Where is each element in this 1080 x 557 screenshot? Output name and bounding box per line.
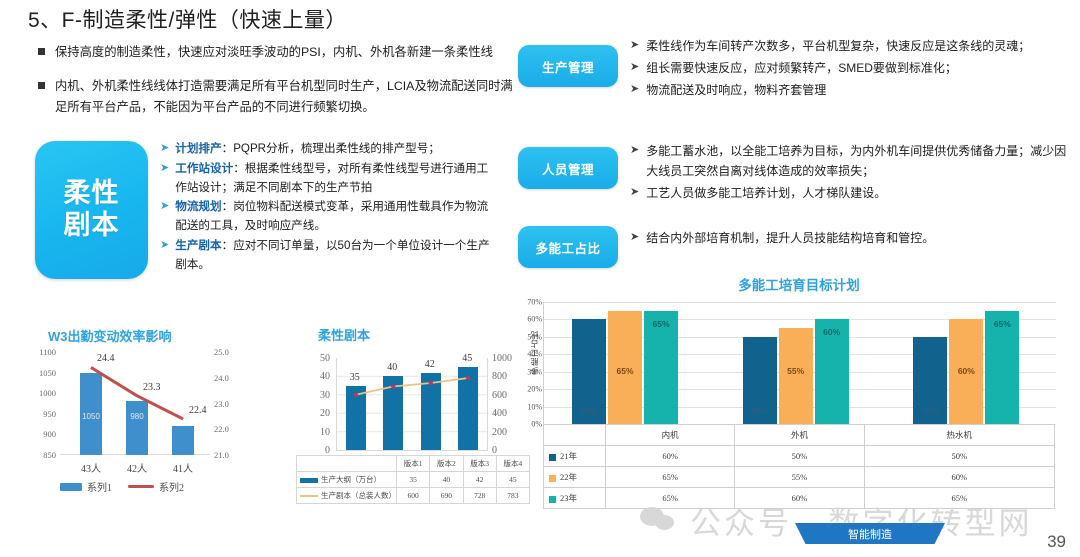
table-cell: 50% (864, 446, 1054, 467)
page-number: 39 (1047, 532, 1066, 552)
table-row: 生产大纲（万台）35404245 (297, 472, 530, 488)
bar-value-label: 35 (340, 372, 370, 383)
y-axis-tick: 20% (520, 385, 542, 394)
y-axis-tick: 0% (520, 420, 542, 429)
legend-swatch (549, 475, 556, 482)
table-cell: 60% (864, 467, 1054, 488)
legend-item: 系列2 (128, 479, 184, 494)
y-axis-tick: 50 (308, 353, 330, 364)
chart-multiskill-plot: 70%60%50%40%30%20%10%0%60%65%65%50%55%60… (543, 302, 1056, 424)
right-block-personnel: ➤多能工蓄水池，以全能工培养为目标，为内外机车间提供优秀储备力量；减少因大线员工… (630, 141, 1070, 205)
gridline (544, 302, 1056, 303)
bar-value-label: 42 (415, 359, 445, 370)
smart-manufacturing-banner: 智能制造 (795, 523, 945, 544)
y-axis-tick: 10 (308, 427, 330, 438)
chart-title: 多能工培育目标计划 (520, 274, 1078, 294)
tag-multiskill-ratio[interactable]: 多能工占比 (518, 226, 618, 268)
table-header-cell: 版本2 (430, 456, 463, 472)
arrow-bullet-icon: ➤ (630, 80, 639, 98)
bar-value-label: 45 (452, 353, 482, 364)
table-header-cell: 热水机 (864, 425, 1054, 446)
table-row-label: 22年 (544, 467, 606, 488)
table-cell: 35 (397, 472, 430, 488)
arrow-bullet-icon: ➤ (160, 140, 169, 158)
table-row-label: 21年 (544, 446, 606, 467)
chart-title: W3出勤变动效率影响 (48, 326, 172, 345)
square-bullet-icon (38, 82, 45, 89)
list-item-text: 工艺人员做多能工培养计划，人才梯队建设。 (646, 183, 886, 203)
y2-axis-tick: 21.0 (214, 450, 248, 460)
bar-value-label: 55% (779, 366, 813, 376)
list-item-text: 物流配送及时响应，物料齐套管理 (646, 80, 826, 100)
table-cell: 42 (463, 472, 496, 488)
table-cell: 600 (397, 488, 430, 504)
top-bullet-list: 保持高度的制造柔性，快速应对淡旺季波动的PSI，内机、外机各新建一条柔性线 内机… (38, 42, 518, 131)
chart-w3-plot: 1050980920 (60, 352, 210, 455)
legend-swatch-bar (60, 483, 82, 491)
chart-w3-attendance: W3出勤变动效率影响 11001050100095090085025.024.0… (14, 324, 276, 509)
y2-axis-tick: 25.0 (214, 347, 248, 357)
table-row: 21年60%50%50% (544, 446, 1055, 467)
chart-title: 柔性剧本 (318, 325, 370, 344)
y-axis-tick: 40 (308, 371, 330, 382)
arrow-bullet-icon: ➤ (630, 228, 639, 246)
x-axis-category: 43人 (69, 460, 113, 475)
table-row-label: 生产大纲（万台） (297, 472, 397, 488)
flexible-script-item-list: ➤ 计划排产：PQPR分析，梳理出柔性线的排产型号； ➤ 工作站设计：根据柔性线… (160, 140, 495, 275)
arrow-bullet-icon: ➤ (160, 198, 169, 216)
legend-swatch (300, 478, 318, 483)
trend-line (60, 352, 210, 455)
tag-production-management[interactable]: 生产管理 (518, 45, 618, 87)
arrow-bullet-icon: ➤ (160, 160, 169, 178)
chart-multiskill-data-table: 内机外机热水机21年60%50%50%22年65%55%60%23年65%60%… (543, 424, 1055, 509)
item-text: ：应对不同订单量，以50台为一个单位设计一个生产剧本。 (175, 239, 489, 271)
bar-value-label: 60% (572, 406, 606, 416)
panel-label-line2: 剧本 (64, 210, 120, 242)
bar-value-label: 50% (743, 406, 777, 416)
legend-swatch (549, 454, 556, 461)
item-text: ：PQPR分析，梳理出柔性线的排产型号； (222, 142, 440, 155)
y-axis-tick: 1100 (22, 347, 56, 357)
legend-swatch-line (128, 485, 154, 488)
list-item: ➤ 计划排产：PQPR分析，梳理出柔性线的排产型号； (160, 140, 495, 159)
bar-value-label: 60% (949, 366, 983, 376)
table-cell: 60% (606, 446, 735, 467)
y-axis-tick: 20 (308, 408, 330, 419)
legend-swatch (549, 496, 556, 503)
list-item: ➤结合内外部培育机制，提升人员技能结构培育和管控。 (630, 228, 1070, 248)
top-bullet-item: 保持高度的制造柔性，快速应对淡旺季波动的PSI，内机、外机各新建一条柔性线 (38, 42, 518, 62)
tag-label: 生产管理 (542, 57, 594, 76)
table-cell: 55% (735, 467, 864, 488)
list-item: ➤柔性线作为车间转产次数多，平台机型复杂，快速反应是这条线的灵魂； (630, 36, 1070, 56)
y-axis-tick: 30 (308, 390, 330, 401)
y-axis-tick: 10% (520, 402, 542, 411)
flexible-script-panel: 柔性剧本 (35, 141, 148, 279)
chart-flexible-data-table: 版本1版本2版本3版本4生产大纲（万台）35404245生产剧本（总装人数）60… (296, 455, 530, 504)
item-text: ：岗位物料配送模式变革，采用通用性载具作为物流配送的工具，及时响应产线。 (175, 200, 488, 232)
arrow-bullet-icon: ➤ (630, 58, 639, 76)
table-header-cell: 外机 (735, 425, 864, 446)
y2-axis-tick: 24.0 (214, 373, 248, 383)
slide-root: 5、F-制造柔性/弹性（快速上量） 保持高度的制造柔性，快速应对淡旺季波动的PS… (0, 0, 1080, 557)
legend-label: 系列2 (159, 479, 184, 494)
y-axis-tick: 1050 (22, 368, 56, 378)
table-row: 生产剧本（总装人数）600690728783 (297, 488, 530, 504)
top-bullet-text: 保持高度的制造柔性，快速应对淡旺季波动的PSI，内机、外机各新建一条柔性线 (55, 42, 493, 62)
bar-value-label: 65% (985, 319, 1019, 329)
arrow-bullet-icon: ➤ (160, 237, 169, 255)
tag-label: 人员管理 (542, 159, 594, 178)
table-cell: 65% (606, 467, 735, 488)
bar (779, 328, 813, 424)
arrow-bullet-icon: ➤ (630, 141, 639, 159)
list-item: ➤ 工作站设计：根据柔性线型号，对所有柔性线型号进行通用工作站设计；满足不同剧本… (160, 160, 495, 198)
chart-flexible-script: 柔性剧本 5040302010010008006004002000 版本1版本2… (296, 322, 534, 512)
right-block-production: ➤柔性线作为车间转产次数多，平台机型复杂，快速反应是这条线的灵魂； ➤组长需要快… (630, 36, 1070, 102)
table-row: 版本1版本2版本3版本4 (297, 456, 530, 472)
table-cell: 728 (463, 488, 496, 504)
item-lead: 计划排产 (175, 142, 221, 155)
legend-label: 系列1 (87, 479, 112, 494)
y2-axis-tick: 23.0 (214, 399, 248, 409)
item-lead: 生产剧本 (175, 239, 221, 252)
table-row-label: 23年 (544, 488, 606, 509)
list-item-text: 结合内外部培育机制，提升人员技能结构培育和管控。 (646, 228, 934, 248)
table-header-cell: 版本3 (463, 456, 496, 472)
flexible-script-panel-label: 柔性剧本 (64, 178, 120, 242)
table-header-cell (297, 456, 397, 472)
tag-personnel-management[interactable]: 人员管理 (518, 147, 618, 189)
y-axis-tick: 950 (22, 409, 56, 419)
y-axis-tick: 850 (22, 450, 56, 460)
list-item: ➤组长需要快速反应，应对频繁转产，SMED要做到标准化； (630, 58, 1070, 78)
arrow-bullet-icon: ➤ (630, 36, 639, 54)
list-item-text: 多能工蓄水池，以全能工培养为目标，为内外机车间提供优秀储备力量；减少因大线员工突… (646, 141, 1070, 181)
bar-value-label: 65% (608, 366, 642, 376)
bar-value-label: 60% (815, 327, 849, 337)
chart-multiskill-y-axis-label: 多能工占比 (529, 330, 540, 375)
chart-w3-legend: 系列1 系列2 (60, 479, 184, 494)
table-header-cell: 内机 (606, 425, 735, 446)
list-item: ➤工艺人员做多能工培养计划，人才梯队建设。 (630, 183, 1070, 203)
y-axis-tick: 70% (520, 298, 542, 307)
bar-value-label: 40 (377, 362, 407, 373)
y2-axis-tick: 22.0 (214, 424, 248, 434)
list-item: ➤ 生产剧本：应对不同订单量，以50台为一个单位设计一个生产剧本。 (160, 237, 495, 275)
x-axis-category: 42人 (115, 460, 159, 475)
table-row-label: 生产剧本（总装人数） (297, 488, 397, 504)
table-cell: 50% (735, 446, 864, 467)
top-bullet-text: 内机、外机柔性线线体打造需要满足所有平台机型同时生产，LCIA及物流配送同时满足… (55, 76, 518, 117)
table-cell: 40 (430, 472, 463, 488)
right-block-multiskill: ➤结合内外部培育机制，提升人员技能结构培育和管控。 (630, 228, 1070, 250)
wechat-icon (640, 506, 680, 536)
legend-swatch (300, 495, 318, 497)
top-bullet-item: 内机、外机柔性线线体打造需要满足所有平台机型同时生产，LCIA及物流配送同时满足… (38, 76, 518, 117)
item-lead: 物流规划 (175, 200, 221, 213)
list-item: ➤ 物流规划：岗位物料配送模式变革，采用通用性载具作为物流配送的工具，及时响应产… (160, 198, 495, 236)
table-cell: 690 (430, 488, 463, 504)
list-item: ➤多能工蓄水池，以全能工培养为目标，为内外机车间提供优秀储备力量；减少因大线员工… (630, 141, 1070, 181)
list-item-text: 组长需要快速反应，应对频繁转产，SMED要做到标准化； (646, 58, 957, 78)
bar-value-label: 65% (644, 319, 678, 329)
legend-item: 系列1 (60, 479, 112, 494)
banner-label: 智能制造 (848, 526, 892, 542)
y-axis-tick: 60% (520, 315, 542, 324)
table-row: 22年65%55%60% (544, 467, 1055, 488)
item-lead: 工作站设计 (175, 162, 233, 175)
y-axis-tick: 1000 (22, 388, 56, 398)
list-item-text: 柔性线作为车间转产次数多，平台机型复杂，快速反应是这条线的灵魂； (646, 36, 1030, 56)
table-header-cell (544, 425, 606, 446)
y-axis-tick: 900 (22, 429, 56, 439)
tag-label: 多能工占比 (535, 238, 600, 257)
table-header-cell: 版本1 (397, 456, 430, 472)
bar-value-label: 50% (913, 406, 947, 416)
arrow-bullet-icon: ➤ (630, 183, 639, 201)
square-bullet-icon (38, 48, 45, 55)
table-row: 内机外机热水机 (544, 425, 1055, 446)
panel-label-line1: 柔性 (64, 178, 120, 210)
page-title: 5、F-制造柔性/弹性（快速上量） (28, 4, 347, 34)
list-item: ➤物流配送及时响应，物料齐套管理 (630, 80, 1070, 100)
x-axis-category: 41人 (161, 460, 205, 475)
